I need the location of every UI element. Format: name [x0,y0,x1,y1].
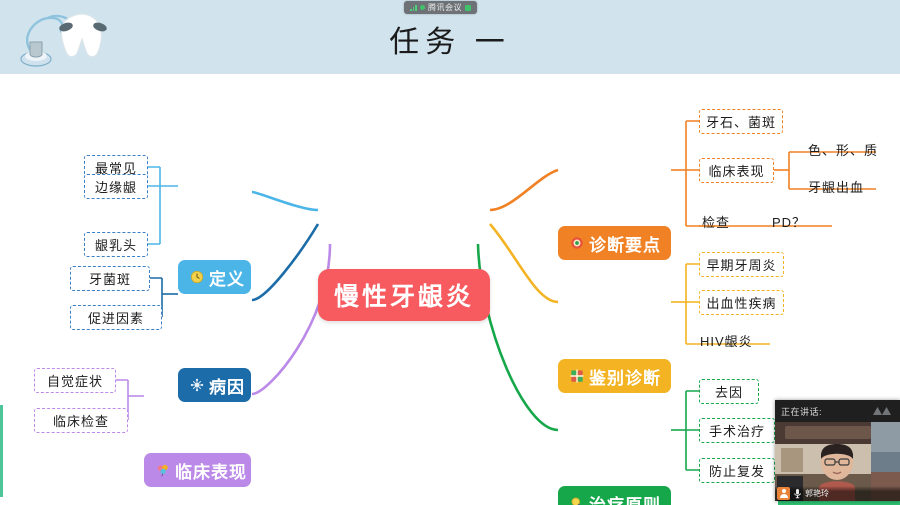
leaf-label: 去因 [715,382,743,401]
pip-status-label: 正在讲话: [781,405,822,418]
branch-label-definition: 定义 [209,265,245,290]
leaf-label: 临床检查 [53,411,109,430]
leaf-label: 出血性疾病 [706,293,776,312]
pip-speaker-name: 郭艳玲 [805,488,829,499]
leaf-def-3[interactable]: 龈乳头 [84,232,148,257]
branch-label-differential: 鉴别诊断 [589,364,661,389]
branch-node-treatment-principles[interactable]: 治疗原则 [558,486,671,505]
leaf-treat-2[interactable]: 手术治疗 [699,418,775,443]
branch-label-diagnosis: 诊断要点 [589,231,661,256]
leaf-dd-1[interactable]: 早期牙周炎 [699,252,784,277]
left-accent-bar [0,405,3,497]
branch-node-definition[interactable]: 定义 [178,260,251,294]
leaf-label: 色、形、质 [808,143,878,158]
leaf-diag-2-sub-1[interactable]: 色、形、质 [808,140,878,159]
green-square-icon [465,5,471,11]
leaf-diag-2-sub-2[interactable]: 牙龈出血 [808,177,864,196]
mindmap-canvas: 慢性牙龈炎 定义 最常见 边缘龈 龈乳头 病因 牙菌斑 促进因素 [0,74,900,505]
pip-status-bar: 正在讲话: [775,400,900,422]
green-dot-icon [420,5,425,10]
leaf-treat-3[interactable]: 防止复发 [699,458,775,483]
leaf-clin-1[interactable]: 自觉症状 [34,368,116,393]
leaf-cause-1[interactable]: 牙菌斑 [70,266,150,291]
leaf-diag-1[interactable]: 牙石、菌斑 [699,109,783,134]
meeting-app-label: 腾讯会议 [428,1,462,14]
clock-icon [190,270,204,284]
magnifier-icon [570,496,584,505]
pip-video-feed: 郭艳玲 [775,422,900,501]
branch-node-diagnosis-points[interactable]: 诊断要点 [558,226,671,260]
leaf-label: 临床表现 [708,161,764,180]
leaf-label: HIV龈炎 [700,334,753,349]
branch-node-differential-diagnosis[interactable]: 鉴别诊断 [558,359,671,393]
signal-bars-icon [410,5,417,11]
leaf-label: 促进因素 [88,308,144,327]
branch-label-etiology: 病因 [209,373,245,398]
target-icon [570,236,584,250]
leaf-clin-2[interactable]: 临床检查 [34,408,128,433]
tencent-meeting-indicator[interactable]: 腾讯会议 [404,1,477,14]
leaf-label: 牙石、菌斑 [706,112,776,131]
user-avatar-icon [777,487,790,500]
leaf-label: 检查 [702,215,730,230]
leaf-diag-3[interactable]: 检查 [702,212,730,231]
center-node-label: 慢性牙龈炎 [334,277,474,313]
branch-label-clinical: 临床表现 [175,458,247,483]
tencent-meeting-logo-icon [872,406,894,416]
mindmap-center-node[interactable]: 慢性牙龈炎 [318,269,490,321]
bottom-accent-bar [778,501,900,505]
leaf-label: 手术治疗 [709,421,765,440]
leaf-dd-2[interactable]: 出血性疾病 [699,290,784,315]
branch-label-treatment: 治疗原则 [589,491,661,505]
video-pip-panel[interactable]: 正在讲话: [775,400,900,501]
four-squares-icon [570,369,584,383]
leaf-label: 防止复发 [709,461,765,480]
leaf-cause-2[interactable]: 促进因素 [70,305,162,330]
microphone-icon [793,488,802,499]
balloons-icon [156,463,170,477]
leaf-dd-3[interactable]: HIV龈炎 [700,331,753,350]
page-title: 任务 一 [0,17,900,61]
leaf-label: 早期牙周炎 [706,255,776,274]
leaf-label: 边缘龈 [95,177,137,196]
leaf-label: 龈乳头 [95,235,137,254]
leaf-note: PD？ [772,215,806,230]
leaf-label: 牙龈出血 [808,180,864,195]
leaf-label: 自觉症状 [47,371,103,390]
leaf-treat-1[interactable]: 去因 [699,379,759,404]
pip-speaker-row: 郭艳玲 [775,486,900,501]
bacteria-icon [190,378,204,392]
branch-node-clinical-manifestations[interactable]: 临床表现 [144,453,251,487]
leaf-diag-3-note: PD？ [772,212,806,231]
leaf-label: 牙菌斑 [89,269,131,288]
leaf-def-2[interactable]: 边缘龈 [84,174,148,199]
branch-node-etiology[interactable]: 病因 [178,368,251,402]
leaf-diag-2[interactable]: 临床表现 [699,158,774,183]
